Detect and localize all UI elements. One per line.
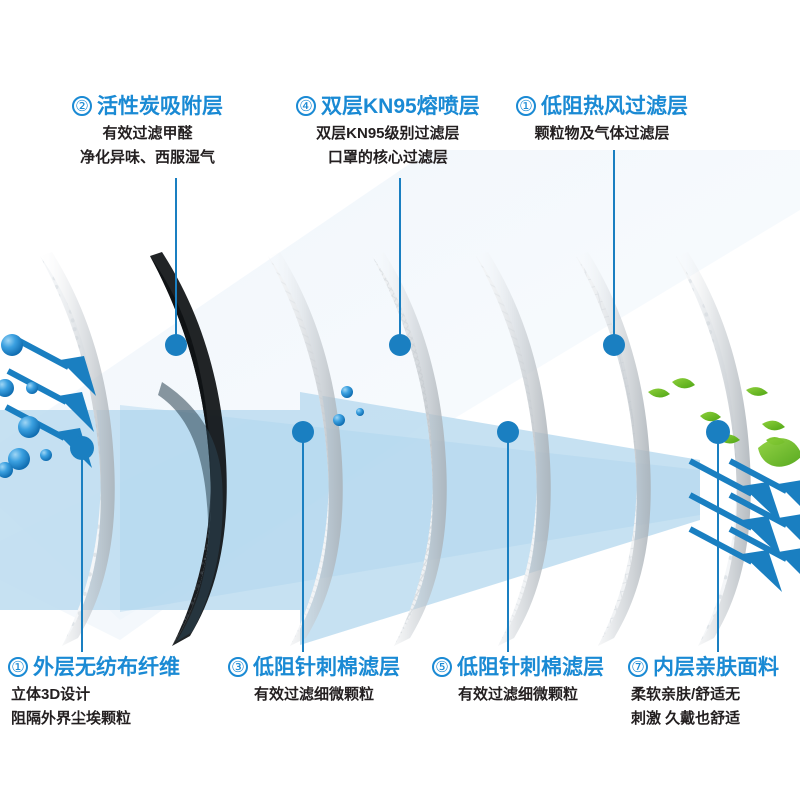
label-6-number: ①: [516, 96, 536, 116]
label-2-heading: ②活性炭吸附层: [72, 94, 223, 120]
label-needle-cotton-a: ③低阻针刺棉滤层 有效过滤细微颗粒: [228, 655, 400, 705]
label-4-sub-line-1: 双层KN95级别过滤层: [296, 123, 480, 144]
label-1-sub-line-1: 立体3D设计: [8, 684, 180, 705]
label-hot-air-filter: ①低阻热风过滤层 颗粒物及气体过滤层: [516, 94, 688, 144]
label-7-number: ⑦: [628, 657, 648, 677]
label-4-heading: ④双层KN95熔喷层: [296, 94, 480, 120]
connector-dot-5: [497, 421, 519, 443]
mask-layer-diagram: ②活性炭吸附层 有效过滤甲醛 净化异味、西服湿气 ④双层KN95熔喷层 双层KN…: [0, 0, 800, 800]
label-4-sub-line-2: 口罩的核心过滤层: [296, 147, 480, 168]
label-7-sub-line-2: 刺激 久戴也舒适: [628, 708, 779, 729]
label-3-number: ③: [228, 657, 248, 677]
label-3-heading: ③低阻针刺棉滤层: [228, 655, 400, 681]
connector-dot-1: [70, 436, 94, 460]
connector-dot-7: [706, 420, 730, 444]
label-outer-nonwoven: ①外层无纺布纤维 立体3D设计 阻隔外界尘埃颗粒: [8, 655, 180, 729]
label-2-sub-line-2: 净化异味、西服湿气: [72, 147, 223, 168]
label-7-title: 内层亲肤面料: [653, 656, 779, 679]
layer-7-inner-skin-fabric: [676, 252, 751, 646]
label-7-sub-line-1: 柔软亲肤/舒适无: [628, 684, 779, 705]
connector-dot-2: [165, 334, 187, 356]
connector-dot-3: [292, 421, 314, 443]
label-4-number: ④: [296, 96, 316, 116]
label-5-heading: ⑤低阻针刺棉滤层: [432, 655, 604, 681]
label-1-number: ①: [8, 657, 28, 677]
label-2-sub-line-1: 有效过滤甲醛: [72, 123, 223, 144]
label-inner-skin-fabric: ⑦内层亲肤面料 柔软亲肤/舒适无 刺激 久戴也舒适: [628, 655, 779, 729]
label-kn95-meltblown: ④双层KN95熔喷层 双层KN95级别过滤层 口罩的核心过滤层: [296, 94, 480, 168]
label-1-sub-line-2: 阻隔外界尘埃颗粒: [8, 708, 180, 729]
label-1-heading: ①外层无纺布纤维: [8, 655, 180, 681]
label-6-title: 低阻热风过滤层: [541, 95, 688, 118]
label-5-number: ⑤: [432, 657, 452, 677]
label-6-sub-line-1: 颗粒物及气体过滤层: [516, 123, 688, 144]
label-needle-cotton-b: ⑤低阻针刺棉滤层 有效过滤细微颗粒: [432, 655, 604, 705]
label-5-sub-line-1: 有效过滤细微颗粒: [432, 684, 604, 705]
label-3-sub-line-1: 有效过滤细微颗粒: [228, 684, 400, 705]
label-4-title: 双层KN95熔喷层: [321, 95, 480, 118]
label-6-heading: ①低阻热风过滤层: [516, 94, 688, 120]
label-1-title: 外层无纺布纤维: [33, 656, 180, 679]
label-2-title: 活性炭吸附层: [97, 95, 223, 118]
connector-dot-4: [389, 334, 411, 356]
label-activated-carbon: ②活性炭吸附层 有效过滤甲醛 净化异味、西服湿气: [72, 94, 223, 168]
label-2-number: ②: [72, 96, 92, 116]
label-3-title: 低阻针刺棉滤层: [253, 656, 400, 679]
label-5-title: 低阻针刺棉滤层: [457, 656, 604, 679]
connector-dot-6: [603, 334, 625, 356]
label-7-heading: ⑦内层亲肤面料: [628, 655, 779, 681]
